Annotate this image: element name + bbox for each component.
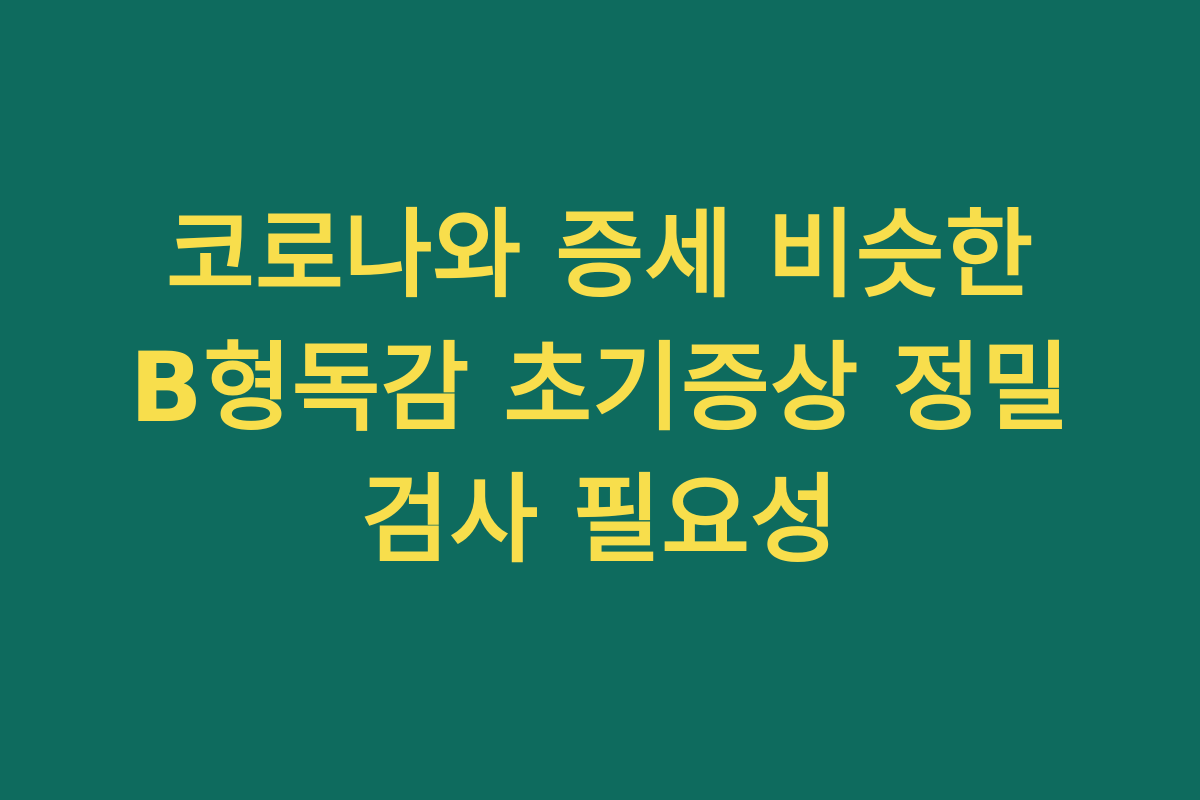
headline-block: 코로나와 증세 비슷한 B형독감 초기증상 정밀 검사 필요성: [88, 189, 1112, 586]
thumbnail-card: 코로나와 증세 비슷한 B형독감 초기증상 정밀 검사 필요성: [0, 0, 1200, 800]
headline-title: 코로나와 증세 비슷한 B형독감 초기증상 정밀 검사 필요성: [88, 189, 1112, 586]
